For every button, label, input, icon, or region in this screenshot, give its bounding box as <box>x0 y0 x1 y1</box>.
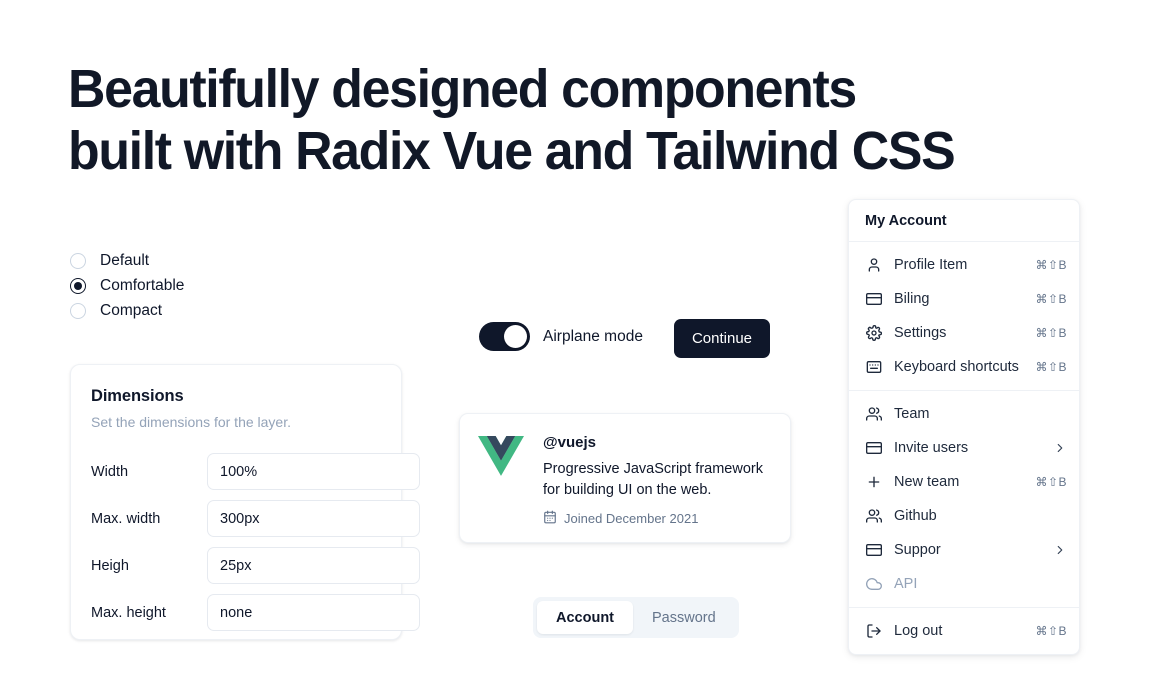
dimension-row: Max. height <box>91 589 381 636</box>
vue-logo-icon <box>478 436 524 476</box>
dimensions-field-list: WidthMax. widthHeighMax. height <box>91 448 381 636</box>
radio-option-compact[interactable]: Compact <box>70 298 184 323</box>
joined-text: Joined December 2021 <box>564 511 698 526</box>
page-title: Beautifully designed components built wi… <box>68 58 990 182</box>
dimension-row: Max. width <box>91 495 381 542</box>
switch-knob <box>504 325 527 348</box>
airplane-mode-row: Airplane mode <box>479 322 643 351</box>
menu-item-shortcut: ⌘⇧B <box>1035 475 1067 489</box>
dimension-label: Max. height <box>91 605 207 621</box>
credit-card-icon <box>865 291 882 308</box>
dimension-input-max-width[interactable] <box>207 500 420 537</box>
menu-item-label: Biling <box>894 291 1035 307</box>
menu-item-keyboard-shortcuts[interactable]: Keyboard shortcuts⌘⇧B <box>849 350 1079 384</box>
radio-label: Compact <box>100 302 162 320</box>
radio-option-comfortable[interactable]: Comfortable <box>70 273 184 298</box>
menu-item-label: Github <box>894 508 1067 524</box>
keyboard-icon <box>865 359 882 376</box>
menu-item-team[interactable]: Team <box>849 397 1079 431</box>
hover-card-body: @vuejs Progressive JavaScript framework … <box>543 434 772 522</box>
menu-item-label: Log out <box>894 623 1035 639</box>
menu-item-api: API <box>849 567 1079 601</box>
dimension-row: Heigh <box>91 542 381 589</box>
radio-option-default[interactable]: Default <box>70 248 184 273</box>
dimension-input-heigh[interactable] <box>207 547 420 584</box>
menu-item-shortcut: ⌘⇧B <box>1035 326 1067 340</box>
menu-group: TeamInvite usersNew team⌘⇧BGithubSupporA… <box>849 391 1079 607</box>
radio-indicator-checked[interactable] <box>70 278 86 294</box>
chevron-right-icon <box>1053 543 1067 557</box>
menu-item-label: Keyboard shortcuts <box>894 359 1035 375</box>
airplane-mode-switch[interactable] <box>479 322 530 351</box>
menu-group: Profile Item⌘⇧BBiling⌘⇧BSettings⌘⇧BKeybo… <box>849 242 1079 390</box>
tab-account[interactable]: Account <box>537 601 633 634</box>
hero-section: Beautifully designed components built wi… <box>68 58 1028 182</box>
calendar-icon <box>543 510 564 527</box>
logout-icon <box>865 623 882 640</box>
chevron-right-icon <box>1053 441 1067 455</box>
menu-item-github[interactable]: Github <box>849 499 1079 533</box>
joined-row: Joined December 2021 <box>543 510 772 527</box>
menu-item-log-out[interactable]: Log out⌘⇧B <box>849 614 1079 648</box>
menu-item-label: Invite users <box>894 440 1053 456</box>
dimension-input-max-height[interactable] <box>207 594 420 631</box>
menu-item-label: Suppor <box>894 542 1053 558</box>
menu-item-settings[interactable]: Settings⌘⇧B <box>849 316 1079 350</box>
dimensions-title: Dimensions <box>91 387 381 406</box>
menu-header-label: My Account <box>849 200 1079 241</box>
menu-item-invite-users[interactable]: Invite users <box>849 431 1079 465</box>
dimension-label: Width <box>91 464 207 480</box>
menu-item-biling[interactable]: Biling⌘⇧B <box>849 282 1079 316</box>
dimensions-card: Dimensions Set the dimensions for the la… <box>70 364 402 640</box>
dimension-label: Max. width <box>91 511 207 527</box>
menu-item-label: New team <box>894 474 1035 490</box>
tab-password[interactable]: Password <box>633 601 735 634</box>
vue-description: Progressive JavaScript framework for bui… <box>543 459 772 501</box>
users-icon <box>865 406 882 423</box>
dimensions-subtitle: Set the dimensions for the layer. <box>91 414 381 430</box>
cloud-icon <box>865 576 882 593</box>
menu-item-label: Profile Item <box>894 257 1035 273</box>
menu-item-profile-item[interactable]: Profile Item⌘⇧B <box>849 248 1079 282</box>
dimension-label: Heigh <box>91 558 207 574</box>
user-icon <box>865 257 882 274</box>
menu-item-shortcut: ⌘⇧B <box>1035 292 1067 306</box>
gear-icon <box>865 325 882 342</box>
menu-item-suppor[interactable]: Suppor <box>849 533 1079 567</box>
airplane-mode-label: Airplane mode <box>543 328 643 346</box>
menu-groups: Profile Item⌘⇧BBiling⌘⇧BSettings⌘⇧BKeybo… <box>849 242 1079 654</box>
continue-button[interactable]: Continue <box>674 319 770 358</box>
radio-indicator[interactable] <box>70 303 86 319</box>
vue-hover-card: @vuejs Progressive JavaScript framework … <box>459 413 791 543</box>
menu-item-label: Settings <box>894 325 1035 341</box>
menu-group: Log out⌘⇧B <box>849 608 1079 654</box>
menu-item-label: API <box>894 576 1067 592</box>
radio-label: Comfortable <box>100 277 184 295</box>
users-icon <box>865 508 882 525</box>
radio-group-density: DefaultComfortableCompact <box>70 248 184 323</box>
menu-item-label: Team <box>894 406 1067 422</box>
credit-card-icon <box>865 440 882 457</box>
page-root: Beautifully designed components built wi… <box>0 0 1152 700</box>
plus-icon <box>865 474 882 491</box>
menu-item-shortcut: ⌘⇧B <box>1035 360 1067 374</box>
radio-label: Default <box>100 252 149 270</box>
menu-item-shortcut: ⌘⇧B <box>1035 624 1067 638</box>
menu-item-shortcut: ⌘⇧B <box>1035 258 1067 272</box>
credit-card-icon <box>865 542 882 559</box>
dimension-row: Width <box>91 448 381 495</box>
radio-dot <box>74 282 82 290</box>
account-dropdown-menu: My Account Profile Item⌘⇧BBiling⌘⇧BSetti… <box>848 199 1080 655</box>
menu-item-new-team[interactable]: New team⌘⇧B <box>849 465 1079 499</box>
tabs-list: AccountPassword <box>533 597 739 638</box>
radio-indicator[interactable] <box>70 253 86 269</box>
vue-handle: @vuejs <box>543 434 772 451</box>
dimension-input-width[interactable] <box>207 453 420 490</box>
